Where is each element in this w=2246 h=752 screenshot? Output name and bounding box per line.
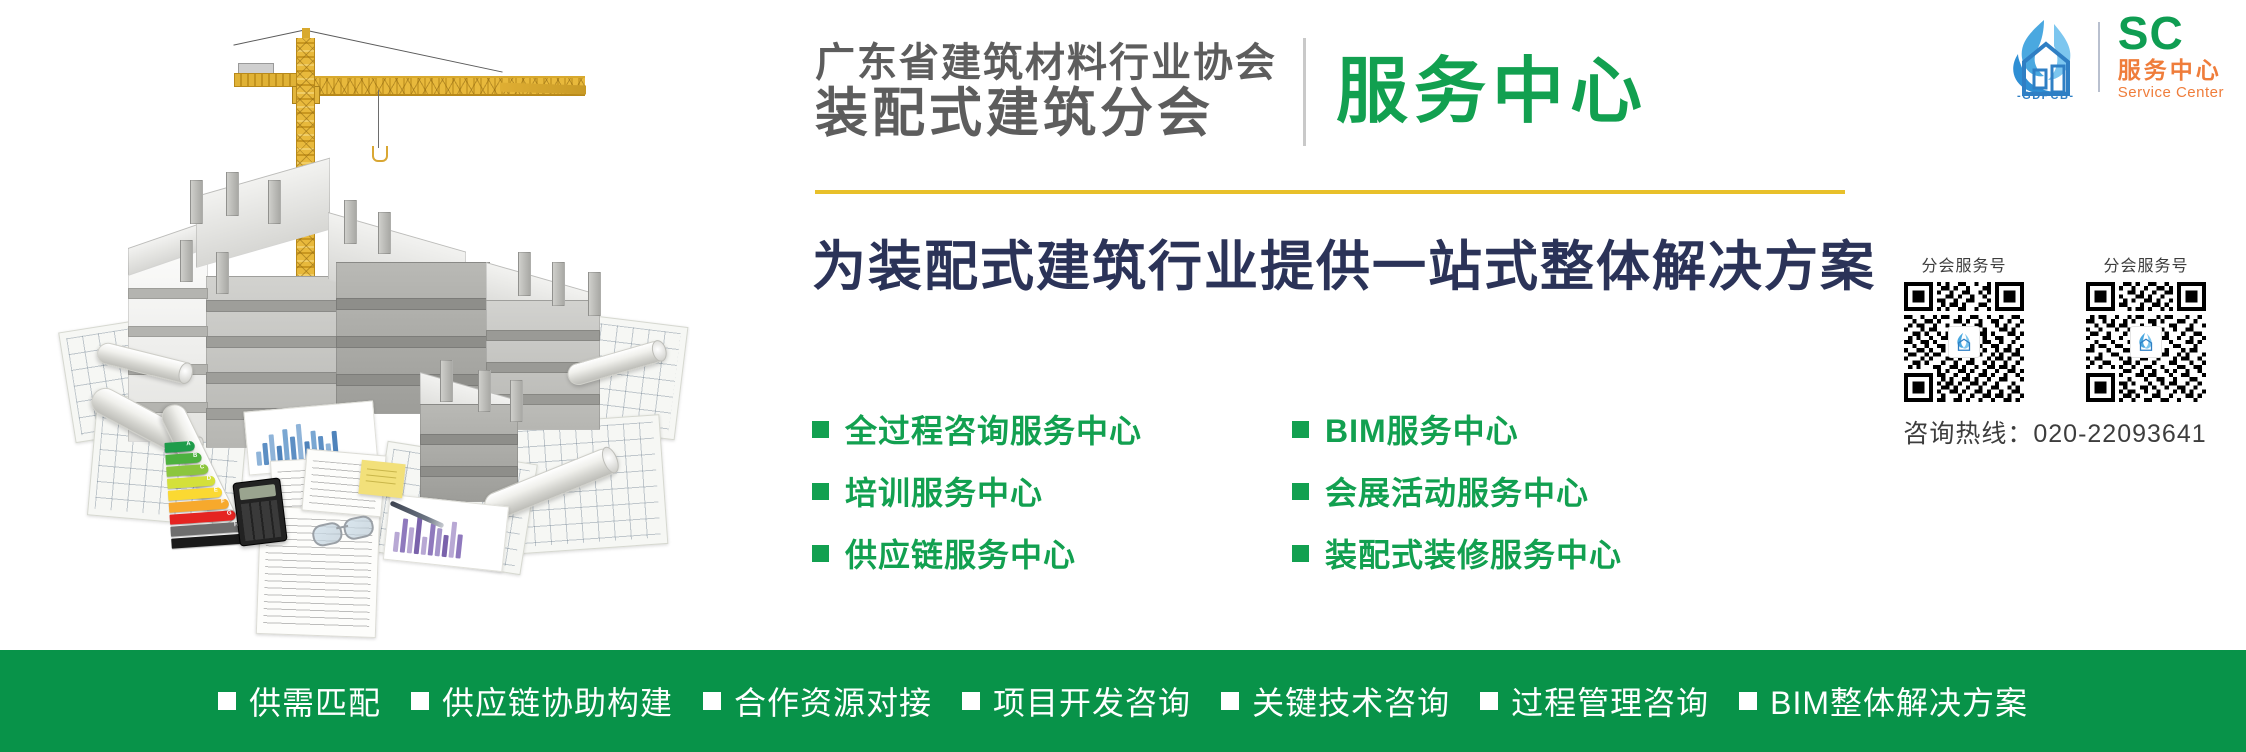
calculator-screen [239,484,276,500]
qr-code-caption: 分会服务号 [1890,252,2038,276]
bullet-square-icon [812,545,829,562]
service-center-list: 全过程咨询服务中心 培训服务中心 供应链服务中心 BIM服务中心 [690,398,1870,584]
content-area: -GDPCB- SC 服务中心 Service Center 广东省建筑材料行业… [690,0,2246,650]
energy-bar: B [165,452,202,464]
bullet-square-icon [1292,545,1309,562]
footer-item[interactable]: 供应链协助构建 [411,678,673,724]
footer-item-label: 项目开发咨询 [993,678,1191,724]
crane-hook [372,146,388,162]
logo-abbr: SC [2118,12,2224,56]
service-item[interactable]: 会展活动服务中心 [1292,460,1692,522]
service-item-label: 全过程咨询服务中心 [845,406,1142,452]
building-floor-line [486,330,600,341]
building-column [478,370,491,412]
building-floor-line [336,336,490,348]
crane-hoist-line [378,90,379,148]
promotional-banner: A B C D E F G H I [0,0,2246,752]
calculator [232,477,287,546]
sticky-note [358,460,405,498]
bullet-square-icon [1221,692,1239,710]
footer-item-label: 过程管理咨询 [1511,678,1709,724]
page-subtitle: 为装配式建筑行业提供一站式整体解决方案 [812,222,1876,301]
footer-item-label: BIM整体解决方案 [1770,678,2028,724]
construction-hero-image: A B C D E F G H I [0,0,690,650]
sc-logo: -GDPCB- SC 服务中心 Service Center [1998,12,2224,101]
footer-item[interactable]: BIM整体解决方案 [1739,678,2028,724]
logo-chinese-name: 服务中心 [2118,56,2224,85]
building-floor-line [206,372,338,384]
building-column [190,180,203,224]
building-column [268,180,281,224]
bullet-square-icon [218,692,236,710]
energy-bar: D [167,475,216,488]
footer-item[interactable]: 供需匹配 [218,678,381,724]
qr-code-image[interactable] [1904,282,2024,402]
qr-code-row: 分会服务号 [1890,252,2220,402]
bullet-square-icon [962,692,980,710]
building-column [216,252,229,294]
flame-house-icon [2135,331,2157,353]
footer-item[interactable]: 合作资源对接 [703,678,932,724]
logo-mark-caption: -GDPCB- [1998,90,2094,102]
bullet-square-icon [812,421,829,438]
building-column [180,240,193,282]
building-floor-line [420,434,518,445]
building-column [588,272,601,316]
energy-bar: A [164,441,195,453]
energy-bar: C [166,464,209,477]
service-item[interactable]: 全过程咨询服务中心 [812,398,1212,460]
flame-house-icon [1953,331,1975,353]
building-floor-line [128,326,208,337]
qr-center-logo [2130,326,2162,358]
footer-bar: 供需匹配 供应链协助构建 合作资源对接 项目开发咨询 关键技术咨询 过程管理咨询… [0,650,2246,752]
building-column [344,200,357,244]
footer-item[interactable]: 过程管理咨询 [1480,678,1709,724]
logo-lockup: SC 服务中心 Service Center [2118,12,2224,101]
footer-item[interactable]: 关键技术咨询 [1221,678,1450,724]
service-column-left: 全过程咨询服务中心 培训服务中心 供应链服务中心 [690,398,1212,584]
service-item[interactable]: 培训服务中心 [812,460,1212,522]
service-row: 全过程咨询服务中心 培训服务中心 供应链服务中心 BIM服务中心 [690,398,1870,584]
building-column [226,172,239,216]
service-item[interactable]: 供应链服务中心 [812,522,1212,584]
building-column [552,262,565,306]
building-floor-line [336,374,490,386]
service-item-label: 供应链服务中心 [845,530,1076,576]
association-name-line1: 广东省建筑材料行业协会 [815,43,1277,84]
qr-code-item[interactable]: 分会服务号 [2072,252,2220,402]
hotline-text: 咨询热线：020-22093641 [1890,414,2220,450]
building-column [510,380,523,422]
service-item-label: 会展活动服务中心 [1325,468,1589,514]
yellow-rule [815,190,1845,194]
logo-text-block: SC 服务中心 Service Center [2098,12,2224,101]
logo-divider [2098,22,2100,92]
service-item-label: 培训服务中心 [845,468,1043,514]
building-column [378,212,391,254]
title-row: 广东省建筑材料行业协会 装配式建筑分会 服务中心 [815,38,1648,146]
gdpcb-logo-mark: -GDPCB- [1998,14,2094,100]
building-column [440,360,453,402]
qr-code-image[interactable] [2086,282,2206,402]
association-name: 广东省建筑材料行业协会 装配式建筑分会 [815,43,1277,142]
footer-item-label: 合作资源对接 [734,678,932,724]
chart-bars [393,508,499,562]
crane-counter-jib [234,73,304,87]
association-name-line2: 装配式建筑分会 [815,87,1277,141]
bullet-square-icon [1292,483,1309,500]
qr-code-item[interactable]: 分会服务号 [1890,252,2038,402]
service-item-label: BIM服务中心 [1325,406,1519,452]
bullet-square-icon [411,692,429,710]
footer-item-label: 供应链协助构建 [442,678,673,724]
building-floor-line [336,298,490,310]
bullet-square-icon [812,483,829,500]
qr-center-logo [1948,326,1980,358]
bullet-square-icon [1480,692,1498,710]
footer-item[interactable]: 项目开发咨询 [962,678,1191,724]
calculator-keypad [241,500,281,541]
footer-item-label: 关键技术咨询 [1252,678,1450,724]
building-column [518,252,531,296]
service-center-title: 服务中心 [1336,56,1648,128]
building-floor-line [206,336,338,348]
logo-english-name: Service Center [2118,84,2224,101]
building-floor-line [206,300,338,312]
footer-item-label: 供需匹配 [249,678,381,724]
service-item[interactable]: BIM服务中心 [1292,398,1692,460]
qr-code-section: 分会服务号 [1890,252,2220,450]
building-floor-line [420,466,518,477]
bullet-square-icon [703,692,721,710]
flame-house-icon [1998,14,2094,100]
service-column-right: BIM服务中心 会展活动服务中心 装配式装修服务中心 [1212,398,1692,584]
qr-code-caption: 分会服务号 [2072,252,2220,276]
bullet-square-icon [1292,421,1309,438]
building-floor-line [128,288,208,299]
service-item[interactable]: 装配式装修服务中心 [1292,522,1692,584]
service-item-label: 装配式装修服务中心 [1325,530,1622,576]
bullet-square-icon [1739,692,1757,710]
title-vertical-divider [1303,38,1306,146]
